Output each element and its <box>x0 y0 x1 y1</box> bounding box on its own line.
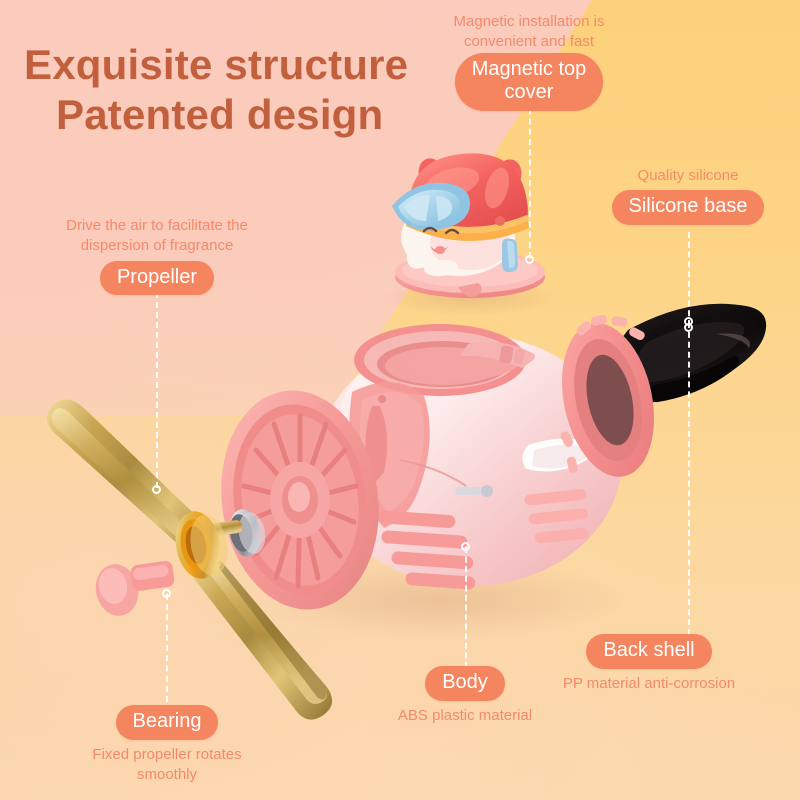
callout-label-body[interactable]: Body <box>425 666 505 701</box>
callout-back-shell: Back shell PP material anti-corrosion <box>540 634 758 694</box>
callout-body: Body ABS plastic material <box>371 666 559 726</box>
product-infographic-poster: Exquisite structure Patented design Magn… <box>0 0 800 800</box>
anchor-dot-body <box>461 542 470 551</box>
callout-bearing: Bearing Fixed propeller rotates smoothly <box>58 705 276 785</box>
callout-label-propeller[interactable]: Propeller <box>100 261 214 296</box>
leader-line-silicone-base <box>688 232 690 326</box>
callout-propeller: Drive the air to facilitate the dispersi… <box>44 216 270 295</box>
callout-magnetic-top-cover: Magnetic installation is convenient and … <box>433 12 625 111</box>
callout-label-silicone-base[interactable]: Silicone base <box>612 190 765 225</box>
callout-label-magnetic-top-cover[interactable]: Magnetic top cover <box>455 53 604 111</box>
callout-silicone-base: Quality silicone Silicone base <box>588 166 788 225</box>
leader-line-magnetic-top-cover <box>529 98 531 258</box>
leader-line-propeller <box>156 292 158 488</box>
callout-caption-propeller: Drive the air to facilitate the dispersi… <box>44 216 270 257</box>
callout-caption-magnetic-top-cover: Magnetic installation is convenient and … <box>433 12 625 53</box>
page-title: Exquisite structure Patented design <box>24 40 408 139</box>
headline-line-2: Patented design <box>24 90 408 140</box>
leader-line-bearing <box>166 594 168 702</box>
callout-caption-back-shell: PP material anti-corrosion <box>540 674 758 694</box>
headline-line-1: Exquisite structure <box>24 41 408 88</box>
anchor-dot-bearing <box>162 589 171 598</box>
callout-caption-silicone-base: Quality silicone <box>588 166 788 186</box>
callout-label-bearing[interactable]: Bearing <box>116 705 219 740</box>
callout-caption-body: ABS plastic material <box>371 706 559 726</box>
leader-line-back-shell <box>688 322 690 635</box>
callout-label-back-shell[interactable]: Back shell <box>586 634 711 669</box>
leader-line-body <box>465 547 467 668</box>
anchor-dot-back-shell <box>684 317 693 326</box>
anchor-dot-propeller <box>152 485 161 494</box>
callout-caption-bearing: Fixed propeller rotates smoothly <box>58 745 276 786</box>
anchor-dot-magnetic-top-cover <box>525 255 534 264</box>
